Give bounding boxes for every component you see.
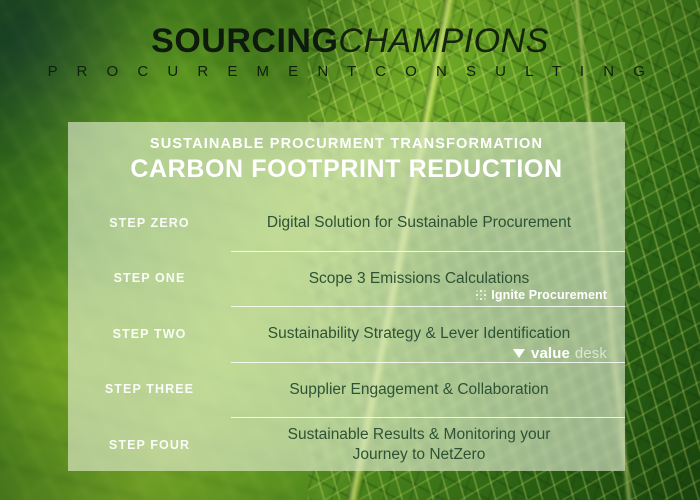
partner-name-value: value [531,345,570,362]
partner-logo-valuedesk: value desk [513,345,607,362]
step-row: STEP ZERO Digital Solution for Sustainab… [68,195,625,251]
step-body: Sustainability Strategy & Lever Identifi… [231,324,625,344]
step-description: Supplier Engagement & Collaboration [231,380,607,400]
logo-word-sourcing: SOURCING [151,22,338,60]
company-logo: SOURCINGCHAMPIONS P R O C U R E M E N T … [0,24,700,80]
step-description: Scope 3 Emissions Calculations [231,269,607,289]
step-description-line2: Journey to NetZero [231,445,607,465]
step-description: Sustainable Results & Monitoring your [231,425,607,445]
step-label: STEP TWO [68,327,231,341]
slide-canvas: SOURCINGCHAMPIONS P R O C U R E M E N T … [0,0,700,500]
step-body: Sustainable Results & Monitoring your Jo… [231,425,625,464]
step-label: STEP ZERO [68,216,231,230]
triangle-down-icon [513,349,525,358]
step-description: Sustainability Strategy & Lever Identifi… [231,324,607,344]
logo-tagline: P R O C U R E M E N T C O N S U L T I N … [0,64,700,80]
content-panel: SUSTAINABLE PROCURMENT TRANSFORMATION CA… [68,122,625,471]
partner-name-desk: desk [575,345,607,362]
step-label: STEP THREE [68,382,231,396]
step-description: Digital Solution for Sustainable Procure… [231,213,607,233]
dot-matrix-icon [476,290,486,300]
panel-headline: CARBON FOOTPRINT REDUCTION [68,154,625,185]
step-label: STEP ONE [68,271,231,285]
panel-kicker: SUSTAINABLE PROCURMENT TRANSFORMATION [68,135,625,153]
logo-wordmark: SOURCINGCHAMPIONS [0,24,700,58]
step-row: STEP THREE Supplier Engagement & Collabo… [68,362,625,418]
step-body: Digital Solution for Sustainable Procure… [231,213,625,233]
step-row: STEP TWO Sustainability Strategy & Lever… [68,306,625,362]
logo-word-champions: CHAMPIONS [338,22,548,60]
partner-logo-ignite: Ignite Procurement [476,288,607,302]
steps-list: STEP ZERO Digital Solution for Sustainab… [68,195,625,473]
step-row: STEP ONE Scope 3 Emissions Calculations … [68,251,625,307]
step-body: Scope 3 Emissions Calculations Ignite Pr… [231,269,625,289]
step-body: Supplier Engagement & Collaboration [231,380,625,400]
partner-name-ignite: Ignite Procurement [491,288,607,302]
panel-header: SUSTAINABLE PROCURMENT TRANSFORMATION CA… [68,122,625,185]
step-label: STEP FOUR [68,438,231,452]
step-row: STEP FOUR Sustainable Results & Monitori… [68,417,625,473]
